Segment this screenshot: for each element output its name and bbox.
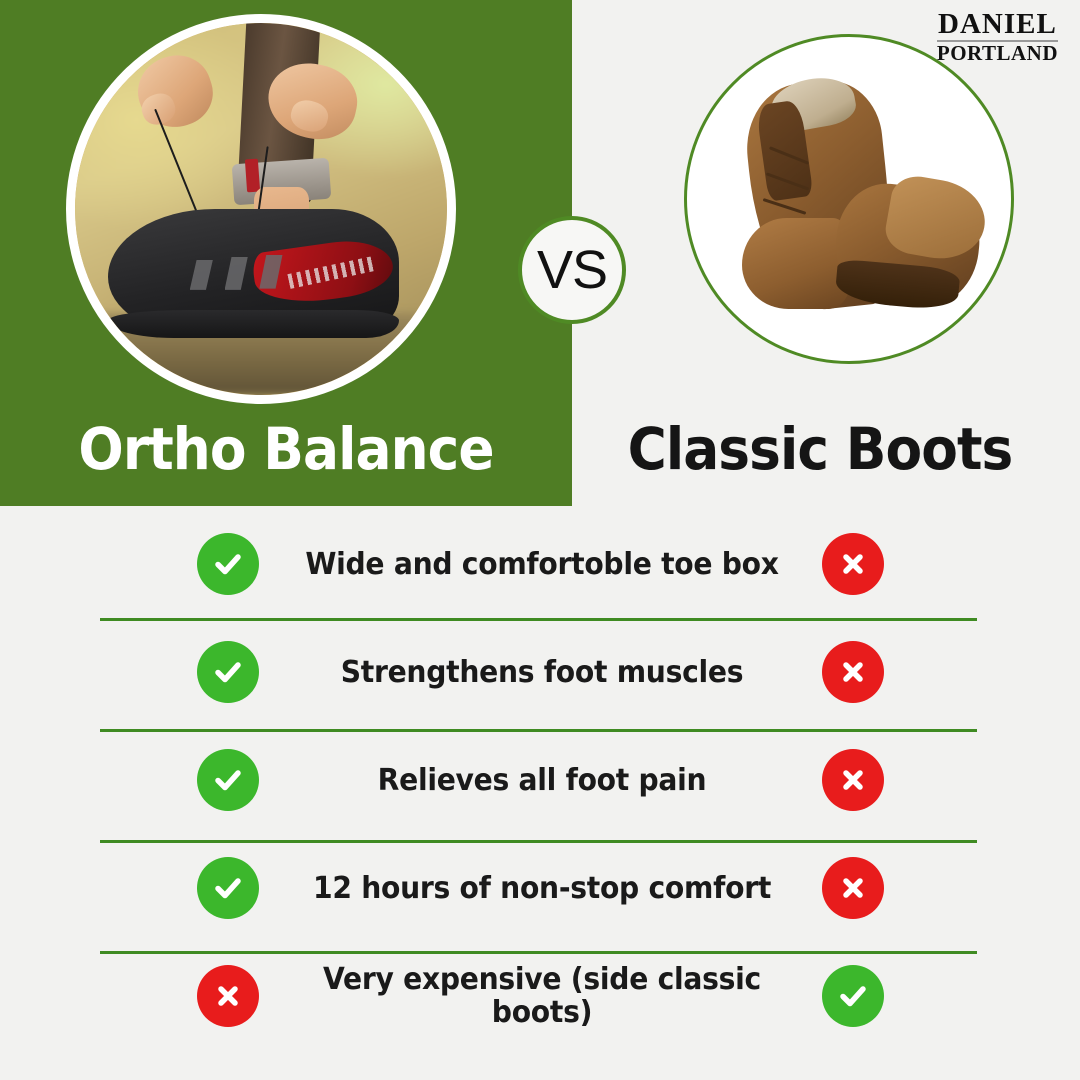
sneaker-shape (108, 209, 398, 335)
feature-label: Very expensive (side classic boots) (288, 963, 796, 1029)
table-row: Wide and comfortoble toe box (0, 510, 1080, 618)
feature-label: Wide and comfortoble toe box (288, 548, 796, 581)
versus-badge: VS (518, 216, 626, 324)
brand-logo: DANIEL PORTLAND (937, 10, 1058, 64)
product-title-right: Classic Boots (618, 420, 1023, 478)
comparison-infographic: DANIEL PORTLAND (0, 0, 1080, 1080)
product-image-classic-boots (684, 34, 1014, 364)
sneaker-photo (75, 23, 447, 395)
cross-icon (822, 749, 884, 811)
boot-toe-shape (742, 218, 852, 309)
cross-icon (197, 965, 259, 1027)
product-title-left: Ortho Balance (23, 420, 549, 478)
cross-icon (822, 857, 884, 919)
table-row: Strengthens foot muscles (0, 618, 1080, 726)
table-row: 12 hours of non-stop comfort (0, 834, 1080, 942)
sneaker-sole (108, 310, 398, 338)
check-icon (197, 533, 259, 595)
comparison-table: Wide and comfortoble toe box Strengthens… (0, 510, 1080, 1076)
brand-name-primary: DANIEL (937, 10, 1058, 39)
table-row: Very expensive (side classic boots) (0, 942, 1080, 1050)
cross-icon (822, 533, 884, 595)
cross-icon (822, 641, 884, 703)
check-icon (197, 857, 259, 919)
check-icon (197, 641, 259, 703)
check-icon (197, 749, 259, 811)
feature-label: Strengthens foot muscles (288, 656, 796, 689)
product-image-ortho-balance (66, 14, 456, 404)
check-icon (822, 965, 884, 1027)
table-row: Relieves all foot pain (0, 726, 1080, 834)
feature-label: Relieves all foot pain (288, 764, 796, 797)
feature-label: 12 hours of non-stop comfort (288, 872, 796, 905)
brand-name-secondary: PORTLAND (937, 43, 1058, 64)
pant-tab-shape (245, 158, 260, 192)
versus-label: VS (537, 243, 607, 297)
